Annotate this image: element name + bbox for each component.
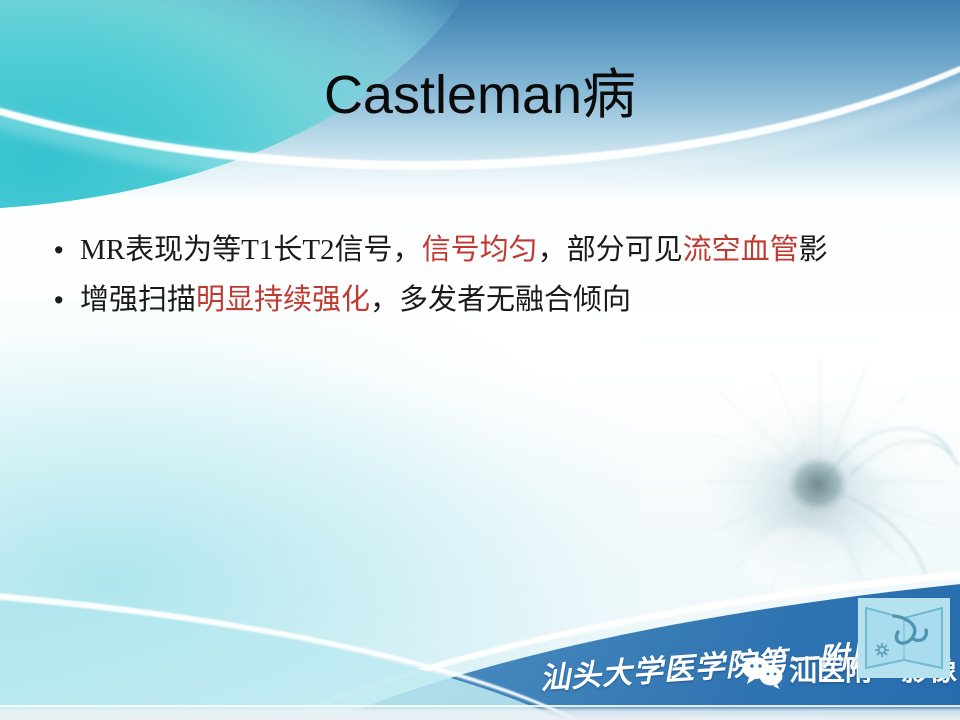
bullet-1-highlight-2: 流空血管 (683, 234, 799, 266)
slide-canvas: Castleman病 • MR表现为等T1长T2信号，信号均匀，部分可见流空血管… (0, 0, 960, 720)
bullet-marker-icon: • (46, 278, 80, 322)
bullet-text-line-2: 增强扫描明显持续强化，多发者无融合倾向 (80, 278, 631, 322)
bullet-2-segment-1: 增强扫描 (80, 284, 196, 316)
hospital-emblem-icon (858, 598, 950, 678)
bullet-1-segment-1: MR表现为等T1长T2信号， (80, 234, 422, 266)
bullet-2-highlight-1: 明显持续强化 (196, 284, 370, 316)
wechat-icon (742, 655, 784, 689)
bullet-1-segment-2: ，部分可见 (538, 234, 683, 266)
bullet-2-segment-2: ，多发者无融合倾向 (370, 284, 631, 316)
bottom-edge-highlight-line (0, 705, 960, 707)
page-title: Castleman病 (0, 66, 960, 125)
bullet-list: • MR表现为等T1长T2信号，信号均匀，部分可见流空血管影 • 增强扫描明显持… (46, 228, 926, 328)
list-item: • MR表现为等T1长T2信号，信号均匀，部分可见流空血管影 (46, 228, 926, 272)
bullet-1-segment-3: 影 (799, 234, 828, 266)
bullet-text-line-1: MR表现为等T1长T2信号，信号均匀，部分可见流空血管影 (80, 228, 828, 272)
list-item: • 增强扫描明显持续强化，多发者无融合倾向 (46, 278, 926, 322)
bullet-marker-icon: • (46, 228, 80, 272)
bullet-1-highlight-1: 信号均匀 (422, 234, 538, 266)
dandelion-watermark-icon (700, 330, 960, 610)
bottom-edge-strip (0, 706, 960, 720)
